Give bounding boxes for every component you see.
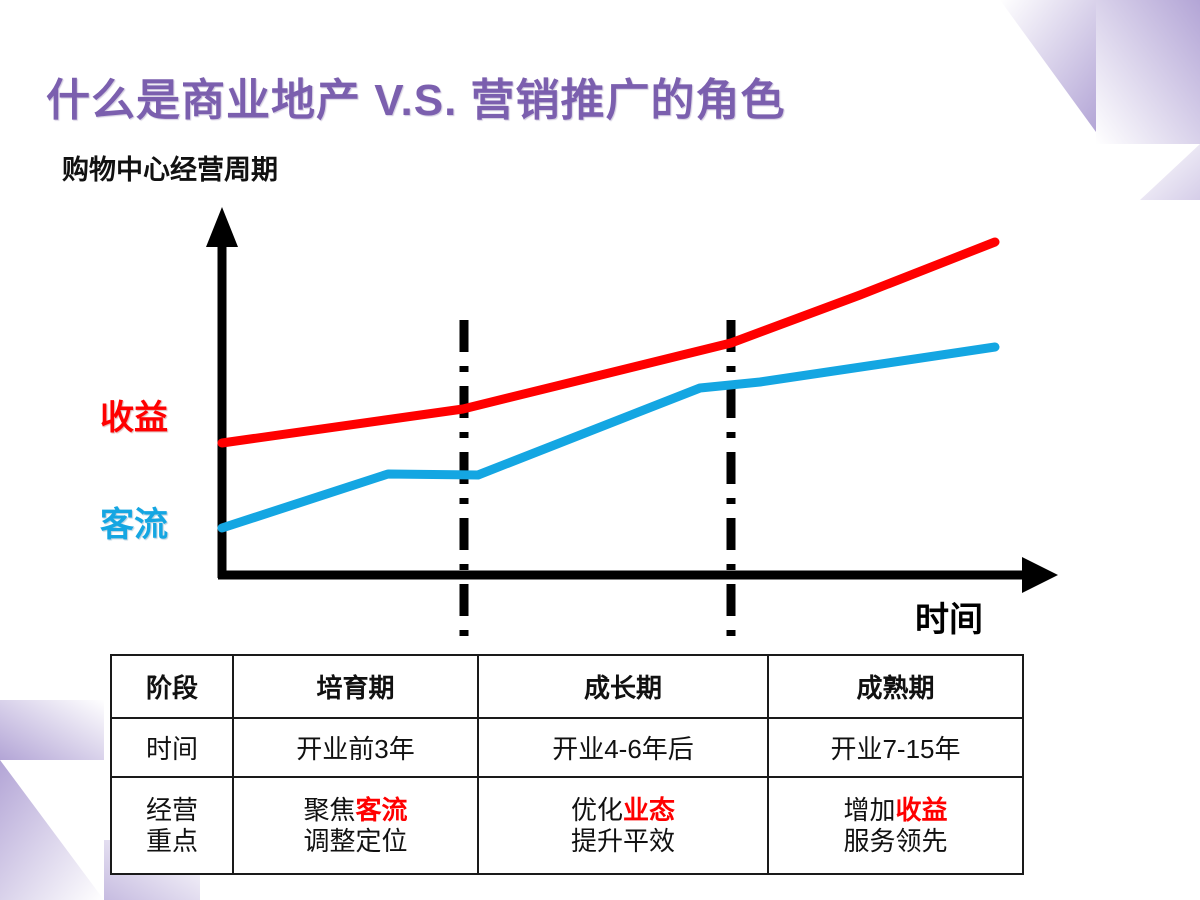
cell-focus-incubation-line1: 聚焦客流 [238, 795, 473, 826]
slide-canvas: 什么是商业地产 V.S. 营销推广的角色 购物中心经营周期 收益 客流 时间 [0, 0, 1200, 900]
cell-focus-maturity-line1: 增加收益 [773, 795, 1018, 826]
table-header-growth: 成长期 [478, 655, 768, 718]
cell-time-maturity: 开业7-15年 [768, 718, 1023, 777]
cell-focus-incubation-highlight: 客流 [356, 795, 408, 825]
cell-focus-growth-plain: 优化 [571, 795, 623, 825]
table-row-focus: 经营 重点 聚焦客流 调整定位 优化业态 提升平效 增加收益 服务领先 [111, 777, 1023, 874]
cell-focus-growth-highlight: 业态 [623, 795, 675, 825]
cell-focus-growth-line2: 提升平效 [483, 826, 763, 857]
cell-focus-incubation-plain: 聚焦 [303, 795, 355, 825]
row-header-focus-line1: 经营 [116, 795, 228, 826]
cell-focus-growth-line1: 优化业态 [483, 795, 763, 826]
table-header-maturity: 成熟期 [768, 655, 1023, 718]
x-axis [218, 557, 1058, 593]
table-header-incubation: 培育期 [233, 655, 478, 718]
row-header-time: 时间 [111, 718, 233, 777]
row-header-focus-line2: 重点 [116, 826, 228, 857]
series-label-revenue: 收益 [100, 390, 168, 439]
cell-time-incubation: 开业前3年 [233, 718, 478, 777]
row-header-focus: 经营 重点 [111, 777, 233, 874]
series-line-revenue [222, 242, 995, 443]
cell-time-growth: 开业4-6年后 [478, 718, 768, 777]
cell-focus-maturity-highlight: 收益 [896, 795, 948, 825]
table-row-header: 阶段 培育期 成长期 成熟期 [111, 655, 1023, 718]
cell-focus-maturity-plain: 增加 [843, 795, 895, 825]
cell-focus-incubation-line2: 调整定位 [238, 826, 473, 857]
table-row-time: 时间 开业前3年 开业4-6年后 开业7-15年 [111, 718, 1023, 777]
table-header-stage: 阶段 [111, 655, 233, 718]
cell-focus-maturity-line2: 服务领先 [773, 826, 1018, 857]
series-label-traffic: 客流 [100, 497, 168, 546]
phase-table: 阶段 培育期 成长期 成熟期 时间 开业前3年 开业4-6年后 开业7-15年 … [110, 654, 1024, 875]
x-axis-label: 时间 [915, 592, 983, 641]
cell-focus-incubation: 聚焦客流 调整定位 [233, 777, 478, 874]
cell-focus-maturity: 增加收益 服务领先 [768, 777, 1023, 874]
cell-focus-growth: 优化业态 提升平效 [478, 777, 768, 874]
